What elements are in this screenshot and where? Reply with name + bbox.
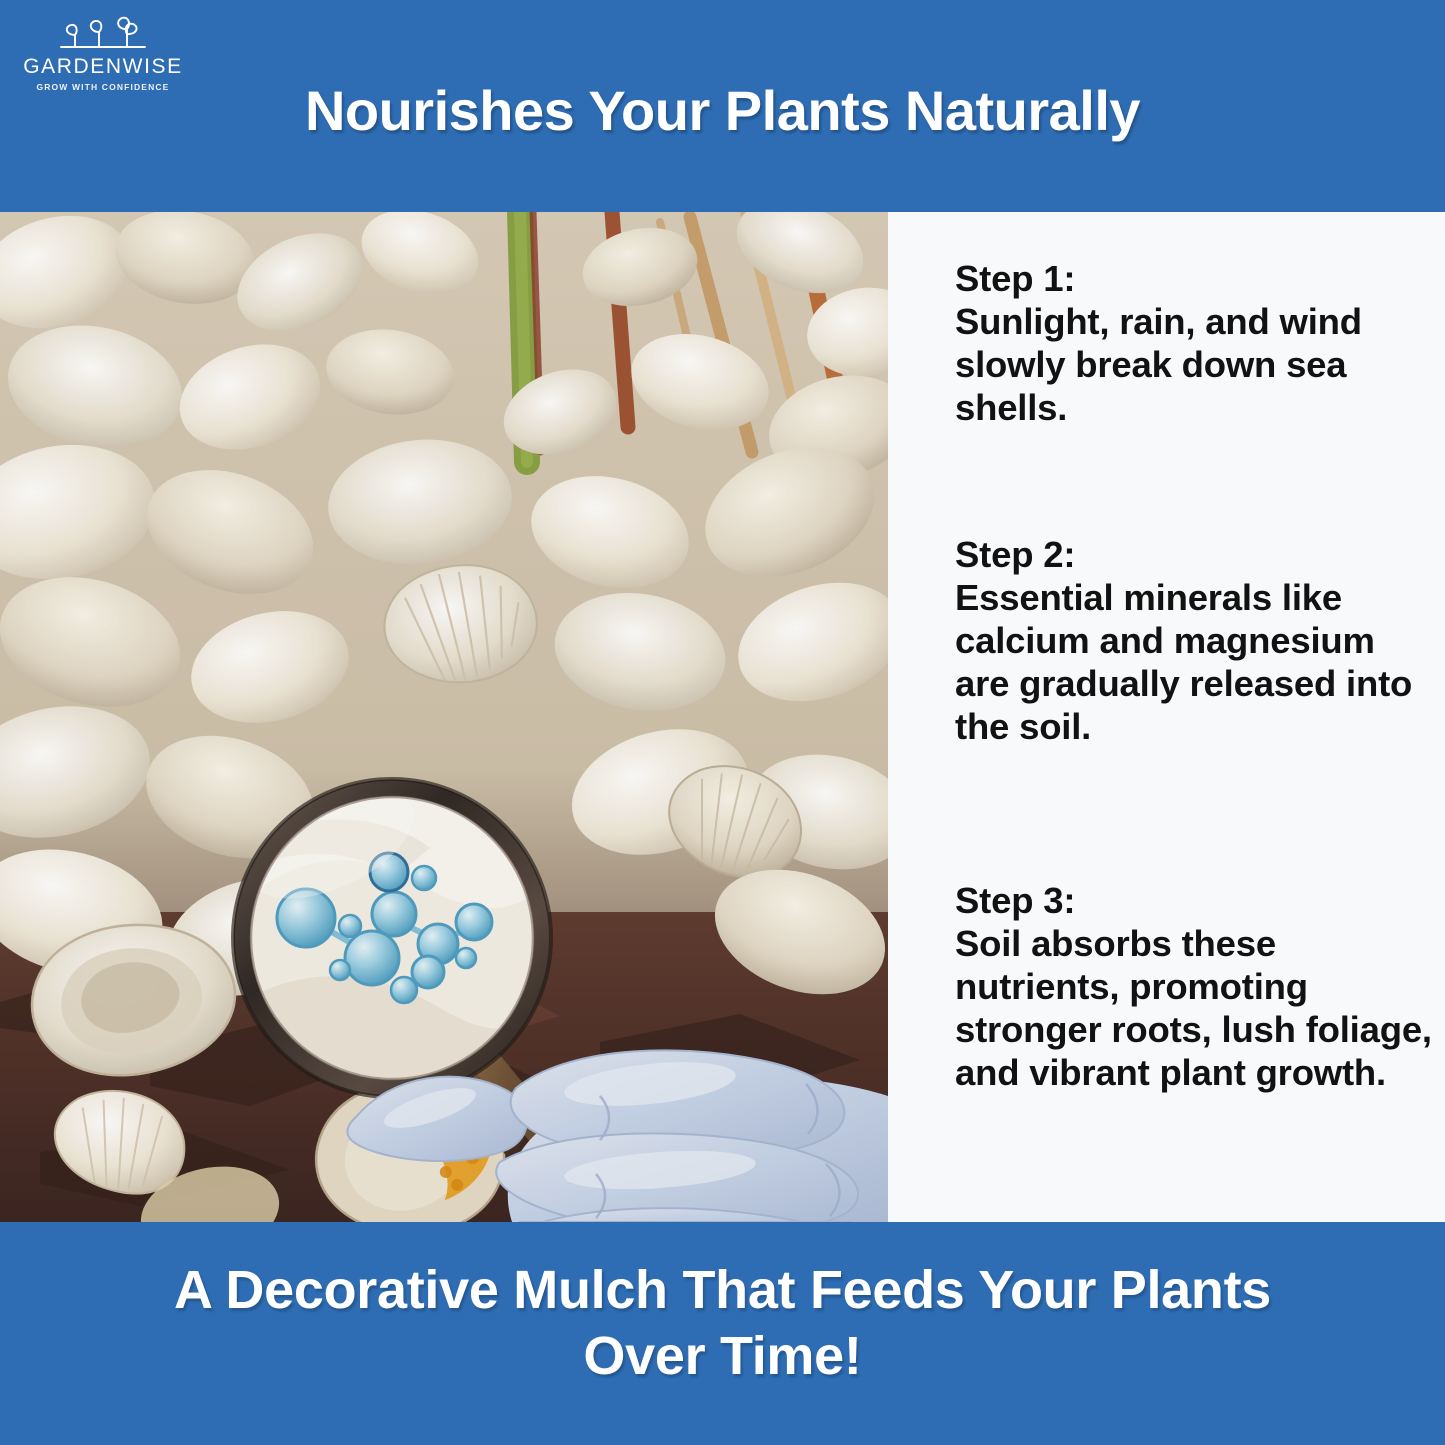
steps-panel: Step 1: Sunlight, rain, and wind slowly …	[888, 212, 1445, 1222]
shell-bed-illustration	[0, 212, 888, 1222]
product-photo	[0, 212, 888, 1222]
step-2-title: Step 2:	[955, 534, 1433, 577]
content-row: Step 1: Sunlight, rain, and wind slowly …	[0, 212, 1445, 1222]
step-3-title: Step 3:	[955, 880, 1433, 923]
page-headline: Nourishes Your Plants Naturally	[0, 78, 1445, 143]
footer-tagline-line1: A Decorative Mulch That Feeds Your Plant…	[0, 1258, 1445, 1324]
step-2-body: Essential minerals like calcium and magn…	[955, 577, 1433, 749]
brand-name: GARDENWISE	[18, 56, 188, 77]
step-item-2: Step 2: Essential minerals like calcium …	[955, 534, 1433, 748]
seedling-sprouts-icon	[47, 12, 159, 54]
footer-tagline-line2: Over Time!	[0, 1324, 1445, 1390]
step-item-3: Step 3: Soil absorbs these nutrients, pr…	[955, 880, 1433, 1094]
footer-tagline: A Decorative Mulch That Feeds Your Plant…	[0, 1258, 1445, 1390]
step-1-body: Sunlight, rain, and wind slowly break do…	[955, 301, 1433, 430]
infographic-page: GARDENWISE GROW WITH CONFIDENCE Nourishe…	[0, 0, 1445, 1445]
step-item-1: Step 1: Sunlight, rain, and wind slowly …	[955, 258, 1433, 430]
top-banner: GARDENWISE GROW WITH CONFIDENCE Nourishe…	[0, 0, 1445, 212]
bottom-banner: A Decorative Mulch That Feeds Your Plant…	[0, 1222, 1445, 1445]
step-3-body: Soil absorbs these nutrients, promoting …	[955, 923, 1433, 1095]
step-1-title: Step 1:	[955, 258, 1433, 301]
